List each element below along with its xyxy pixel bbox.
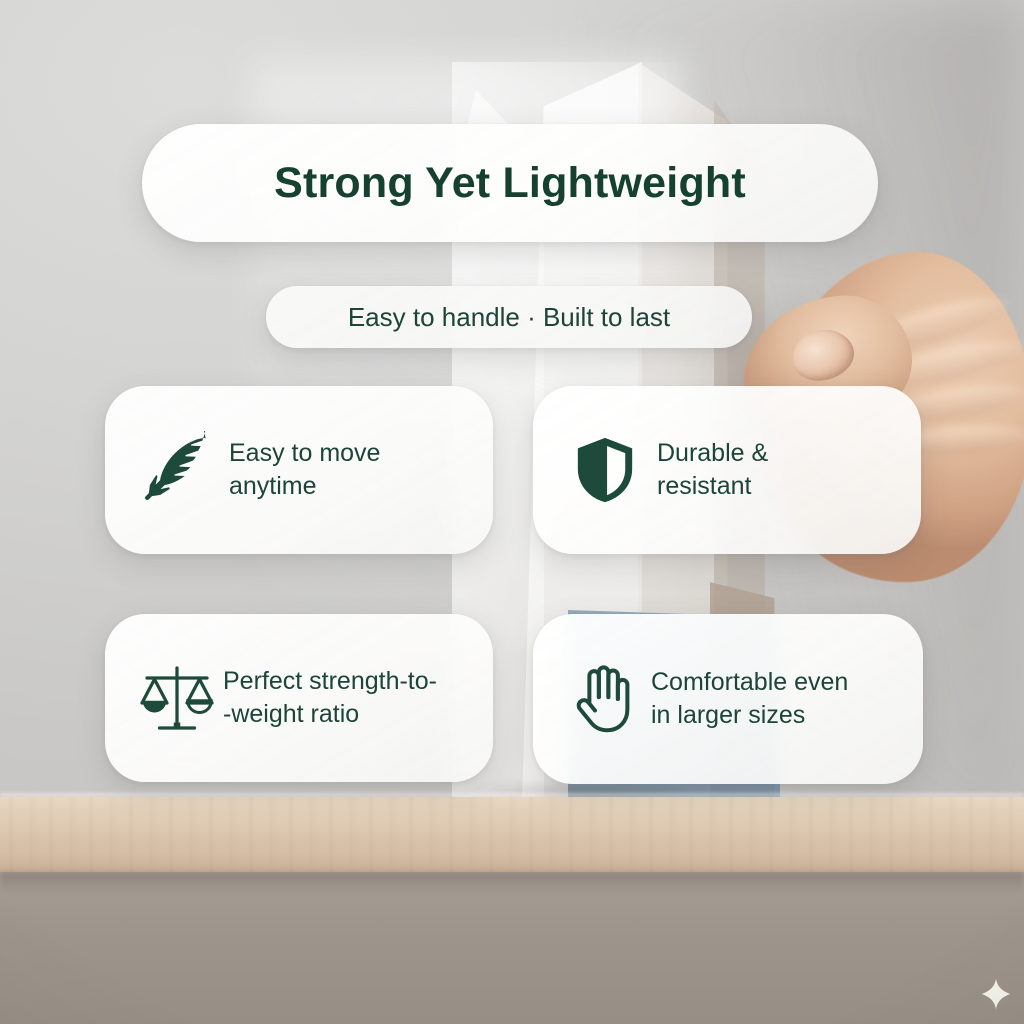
shelf-front-face [0,872,1024,1024]
open-hand-icon [559,653,651,745]
feature-card-easy-to-move[interactable]: Easy to move anytime [105,386,493,554]
shield-icon [559,424,651,516]
sparkle-icon [979,977,1013,1011]
title-pill: Strong Yet Lightweight [142,124,878,242]
shelf-front-shade [0,872,1024,894]
subtitle-pill: Easy to handle · Built to last [266,286,752,348]
wooden-shelf [0,797,1024,875]
feature-card-label: Durable & resistant [657,437,768,504]
page-subtitle: Easy to handle · Built to last [348,302,670,333]
feature-card-comfortable[interactable]: Comfortable even in larger sizes [533,614,923,784]
feature-card-strength-to-weight[interactable]: Perfect strength-to- -weight ratio [105,614,493,782]
balance-scale-icon [131,652,223,744]
page-title: Strong Yet Lightweight [274,159,746,208]
feature-card-label: Easy to move anytime [229,437,380,504]
poster-canvas: Strong Yet Lightweight Easy to handle · … [0,0,1024,1024]
feature-card-label: Comfortable even in larger sizes [651,666,848,733]
feather-icon [131,424,223,516]
feature-card-label: Perfect strength-to- -weight ratio [223,665,437,732]
feature-card-durable[interactable]: Durable & resistant [533,386,921,554]
